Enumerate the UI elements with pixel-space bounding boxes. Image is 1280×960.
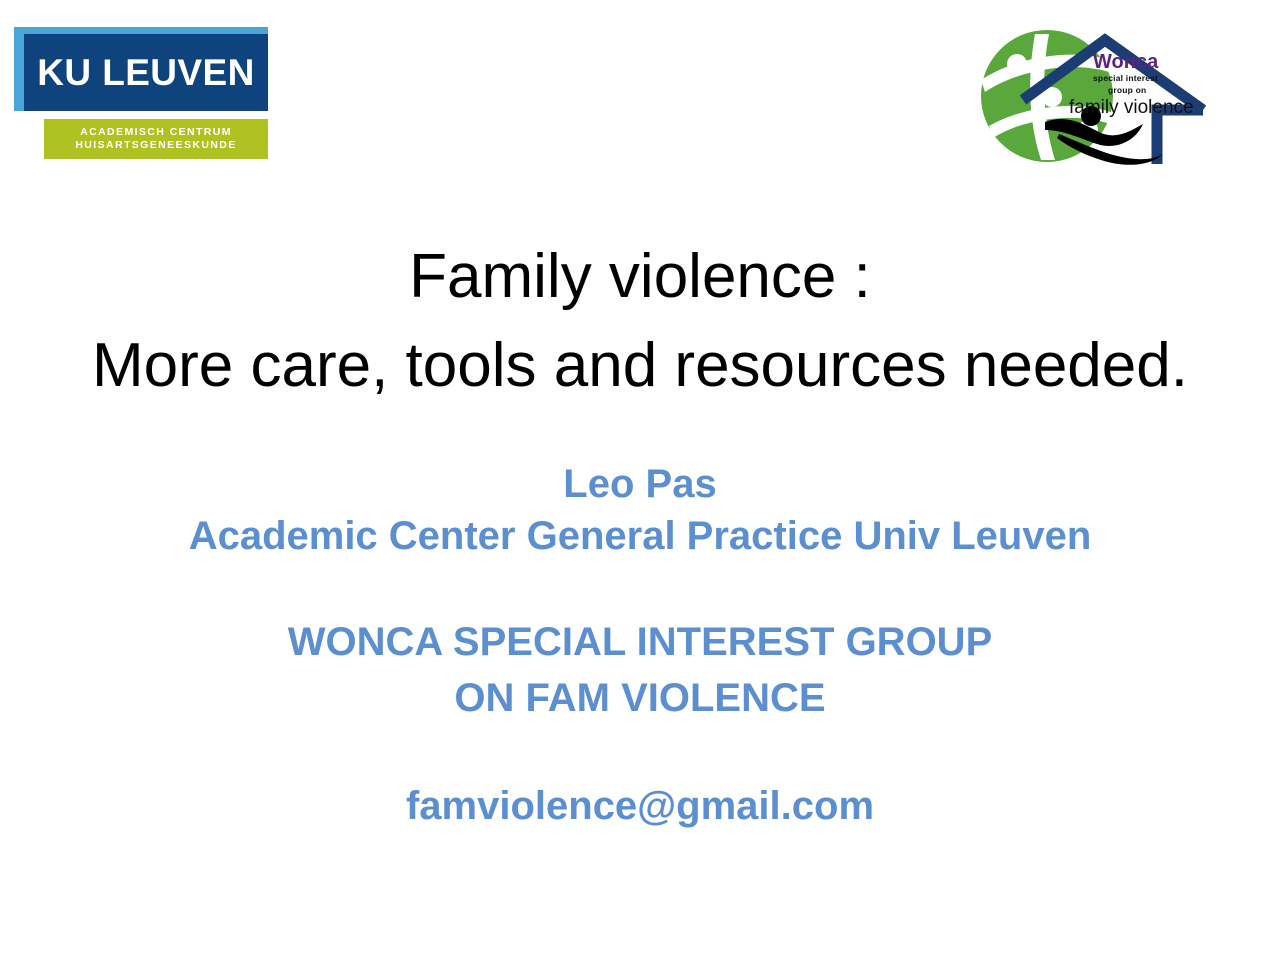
ku-logo-subtitle-line-1: ACADEMISCH CENTRUM [80, 126, 232, 139]
title-line-1: Family violence : [0, 232, 1280, 321]
wonca-brand-text: Wonca [1093, 51, 1159, 73]
ku-leuven-logo: KU LEUVEN ACADEMISCH CENTRUM HUISARTSGEN… [14, 27, 268, 152]
title-line-2: More care, tools and resources needed. [0, 321, 1280, 410]
ku-logo-accent-left-bar [14, 27, 24, 111]
presenter-affiliation: Academic Center General Practice Univ Le… [0, 510, 1280, 562]
wonca-line2-text: special interest [1093, 73, 1158, 83]
wonca-family-violence-logo: Wonca special interest group on family v… [975, 18, 1225, 178]
slide-title: Family violence : More care, tools and r… [0, 232, 1280, 410]
subtitle-spacer-1 [0, 562, 1280, 614]
contact-email[interactable]: famviolence@gmail.com [0, 778, 1280, 834]
wonca-group-line-2: ON FAM VIOLENCE [0, 670, 1280, 726]
ku-logo-blue-panel: KU LEUVEN [24, 34, 268, 111]
ku-logo-accent-top-bar [14, 27, 268, 34]
presenter-name: Leo Pas [0, 458, 1280, 510]
wonca-line4-text: family violence [1069, 97, 1194, 118]
ku-logo-green-panel: ACADEMISCH CENTRUM HUISARTSGENEESKUNDE [44, 119, 268, 159]
slide-subtitle: Leo Pas Academic Center General Practice… [0, 458, 1280, 834]
ku-leuven-wordmark: KU LEUVEN [37, 54, 254, 91]
wonca-line3-text: group on [1108, 85, 1146, 95]
slide-canvas: KU LEUVEN ACADEMISCH CENTRUM HUISARTSGEN… [0, 0, 1280, 960]
wonca-group-line-1: WONCA SPECIAL INTEREST GROUP [0, 614, 1280, 670]
subtitle-spacer-2 [0, 726, 1280, 778]
ku-logo-subtitle-line-2: HUISARTSGENEESKUNDE [75, 139, 236, 152]
